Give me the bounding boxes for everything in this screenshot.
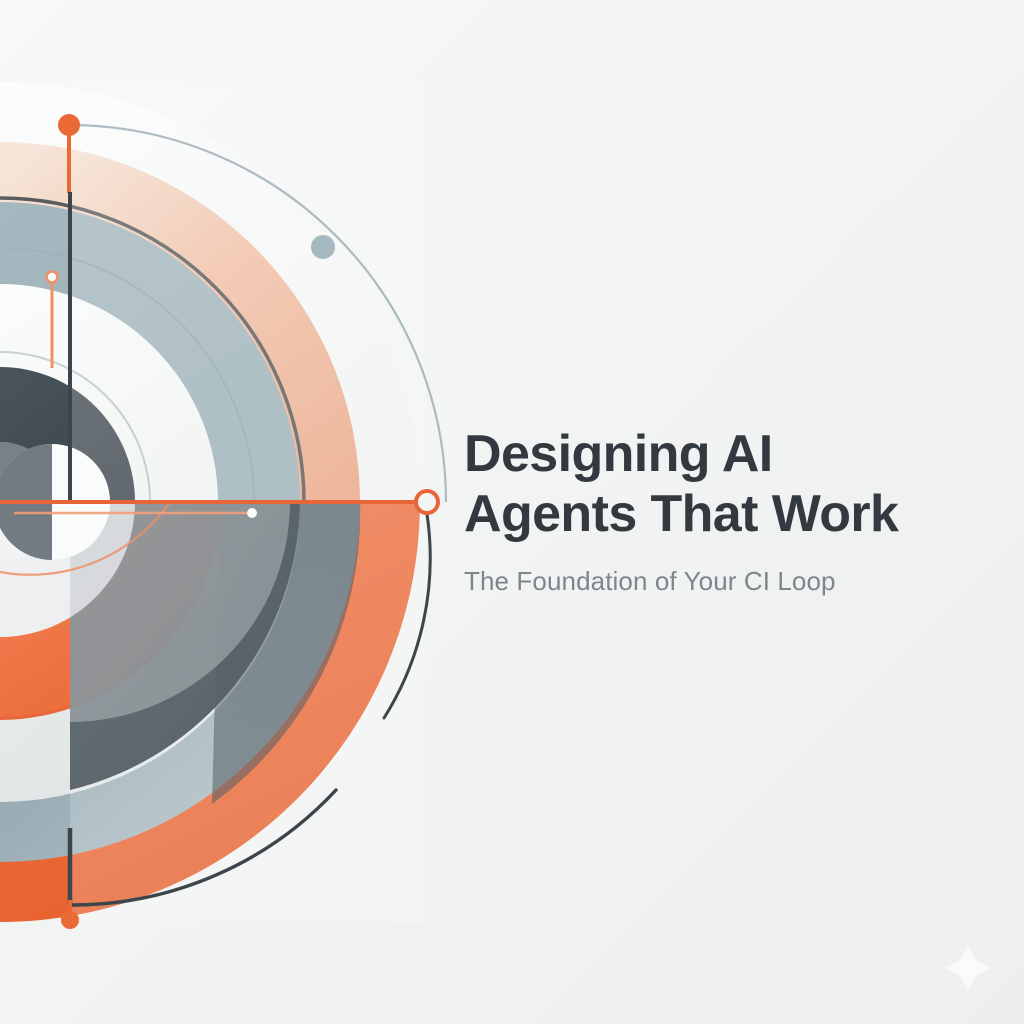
right-node-marker[interactable] — [416, 491, 438, 513]
page-title-line1: Designing AI — [464, 424, 934, 484]
page-title-line2: Agents That Work — [464, 484, 934, 544]
top-node-marker[interactable] — [58, 114, 80, 136]
bottom-node-marker[interactable] — [61, 911, 79, 929]
page-subtitle: The Foundation of Your CI Loop — [464, 564, 934, 598]
headline-block: Designing AI Agents That Work The Founda… — [464, 424, 934, 598]
tick-node-marker[interactable] — [247, 508, 257, 518]
slide-canvas: Designing AI Agents That Work The Founda… — [0, 0, 1024, 1024]
orbit-node-marker[interactable] — [311, 235, 335, 259]
inner-node-marker[interactable] — [47, 272, 58, 283]
ring-group — [0, 82, 446, 929]
